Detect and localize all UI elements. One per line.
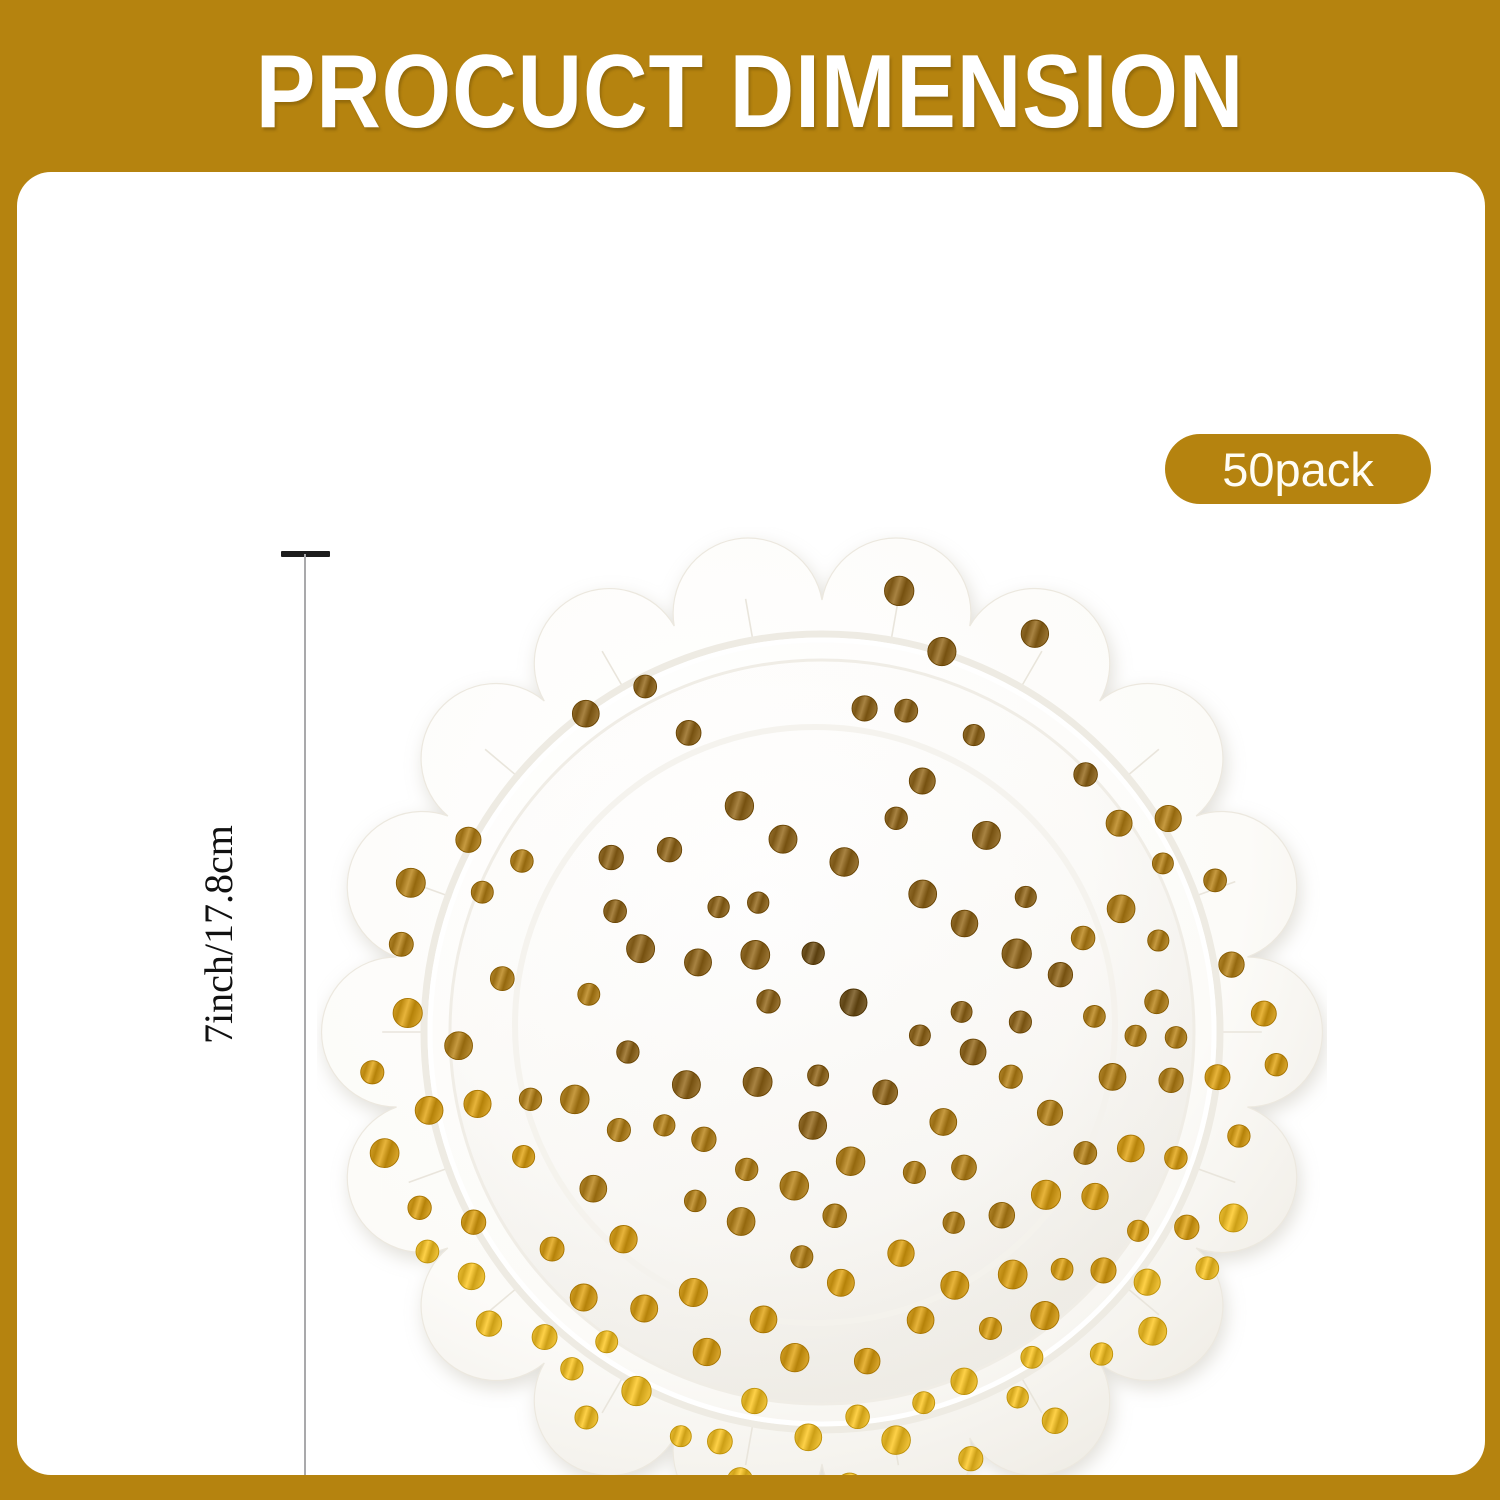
page-title: PROCUCT DIMENSION [105,40,1395,144]
gold-frame: PROCUCT DIMENSION [0,0,1500,1500]
product-image-scalloped-plate [317,527,1327,1475]
dimension-line [304,554,306,1475]
pack-size-badge-label: 50pack [1222,446,1374,493]
pack-size-badge: 50pack [1165,434,1431,504]
dimension-label: 7inch/17.8cm [213,932,293,1232]
dimension-label-text: 7inch/17.8cm [199,964,239,1044]
content-panel: 7inch/17.8cm 50pack [17,172,1485,1475]
